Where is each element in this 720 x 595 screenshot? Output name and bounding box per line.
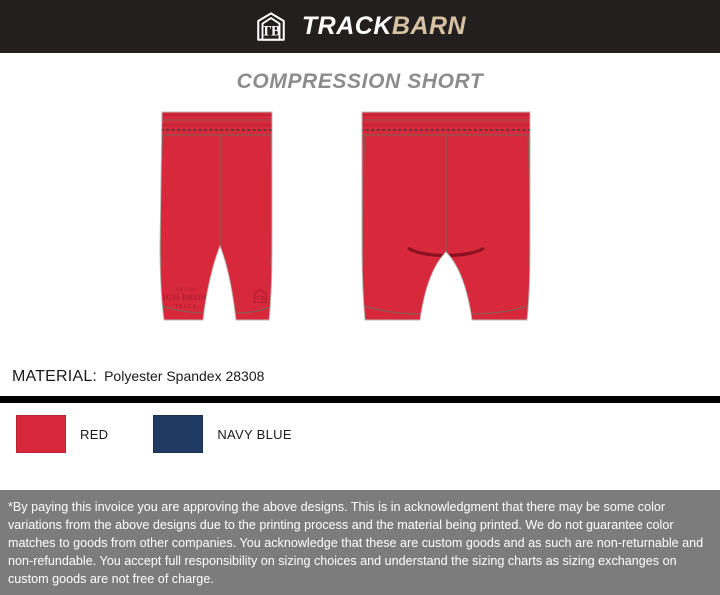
- material-value: Polyester Spandex 28308: [104, 368, 264, 384]
- material-label: MATERIAL:: [12, 368, 97, 386]
- page-title: COMPRESSION SHORT: [0, 70, 720, 94]
- divider-top: [0, 396, 720, 403]
- swatch-red: RED: [16, 415, 108, 453]
- brand-wordmark-track: TRACK: [302, 12, 392, 40]
- swatch-chip-navy-blue: [153, 415, 203, 453]
- svg-text:HIGH BRIDGE: HIGH BRIDGE: [156, 293, 216, 302]
- swatch-navy-blue: NAVY BLUE: [153, 415, 291, 453]
- barn-monogram-icon: TB: [254, 10, 288, 44]
- swatch-chip-red: [16, 415, 66, 453]
- disclaimer-text: *By paying this invoice you are approvin…: [0, 490, 720, 595]
- brand-wordmark-barn: BARN: [392, 12, 466, 40]
- svg-text:TRACK: TRACK: [175, 304, 198, 310]
- svg-text:TB: TB: [261, 23, 281, 39]
- material-row: MATERIAL: Polyester Spandex 28308: [0, 368, 720, 386]
- brand-wordmark: TRACKBARN: [302, 14, 466, 39]
- back-view: [355, 106, 540, 356]
- swatch-label-navy-blue: NAVY BLUE: [217, 427, 291, 442]
- swatch-label-red: RED: [80, 427, 108, 442]
- app-header: TB TRACKBARN: [0, 0, 720, 53]
- svg-text:TB: TB: [256, 295, 265, 302]
- garment-artwork: TEXAS HIGH BRIDGE TRACK TB: [0, 106, 720, 358]
- color-swatch-strip: RED NAVY BLUE: [0, 403, 720, 465]
